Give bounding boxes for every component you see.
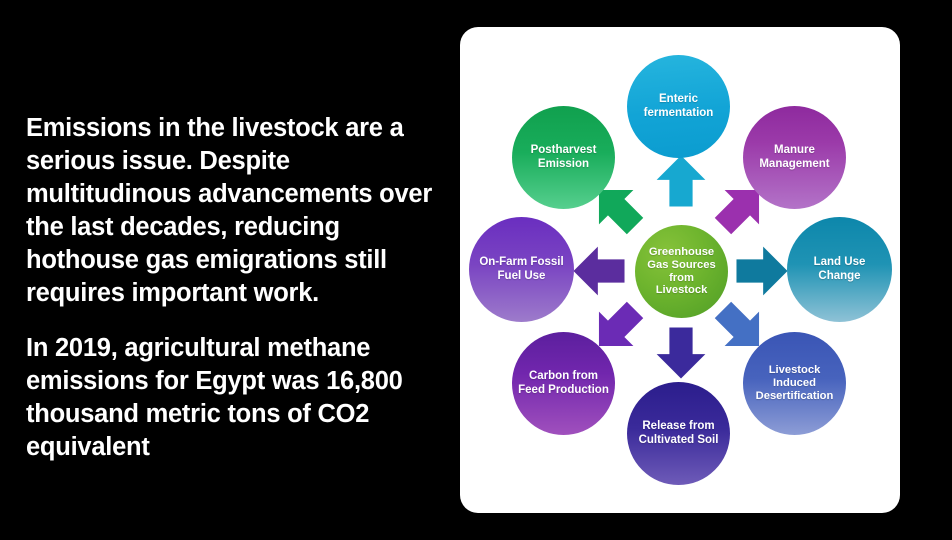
node-release-from-cultivated-soil[interactable]: Release from Cultivated Soil [627, 382, 730, 485]
node-center-greenhouse-gas-sources[interactable]: Greenhouse Gas Sources from Livestock [635, 225, 728, 318]
node-label: Postharvest Emission [525, 144, 603, 171]
arrow-down-icon [652, 324, 710, 382]
arrow-up-icon [652, 152, 710, 210]
node-postharvest-emission[interactable]: Postharvest Emission [512, 106, 615, 209]
node-label: Livestock Induced Desertification [750, 364, 840, 403]
node-label: Land Use Change [808, 256, 872, 283]
paragraph-emissions-issue: Emissions in the livestock are a serious… [26, 112, 436, 310]
node-manure-management[interactable]: Manure Management [743, 106, 846, 209]
node-label: On-Farm Fossil Fuel Use [473, 256, 569, 283]
node-carbon-from-feed-production[interactable]: Carbon from Feed Production [512, 332, 615, 435]
greenhouse-gas-sources-diagram: Enteric fermentation Manure Management L… [460, 27, 900, 513]
node-label: Release from Cultivated Soil [633, 420, 725, 447]
arrow-left-icon [570, 242, 628, 300]
diagram-card: Enteric fermentation Manure Management L… [460, 27, 900, 513]
text-panel: Emissions in the livestock are a serious… [26, 112, 436, 464]
node-label: Carbon from Feed Production [512, 370, 615, 397]
node-label: Enteric fermentation [638, 93, 720, 120]
node-on-farm-fossil-fuel-use[interactable]: On-Farm Fossil Fuel Use [469, 217, 574, 322]
arrow-right-icon [733, 242, 791, 300]
node-land-use-change[interactable]: Land Use Change [787, 217, 892, 322]
node-label: Manure Management [753, 144, 835, 171]
node-livestock-induced-desertification[interactable]: Livestock Induced Desertification [743, 332, 846, 435]
paragraph-egypt-methane: In 2019, agricultural methane emissions … [26, 332, 436, 464]
node-enteric-fermentation[interactable]: Enteric fermentation [627, 55, 730, 158]
node-label: Greenhouse Gas Sources from Livestock [641, 246, 721, 298]
